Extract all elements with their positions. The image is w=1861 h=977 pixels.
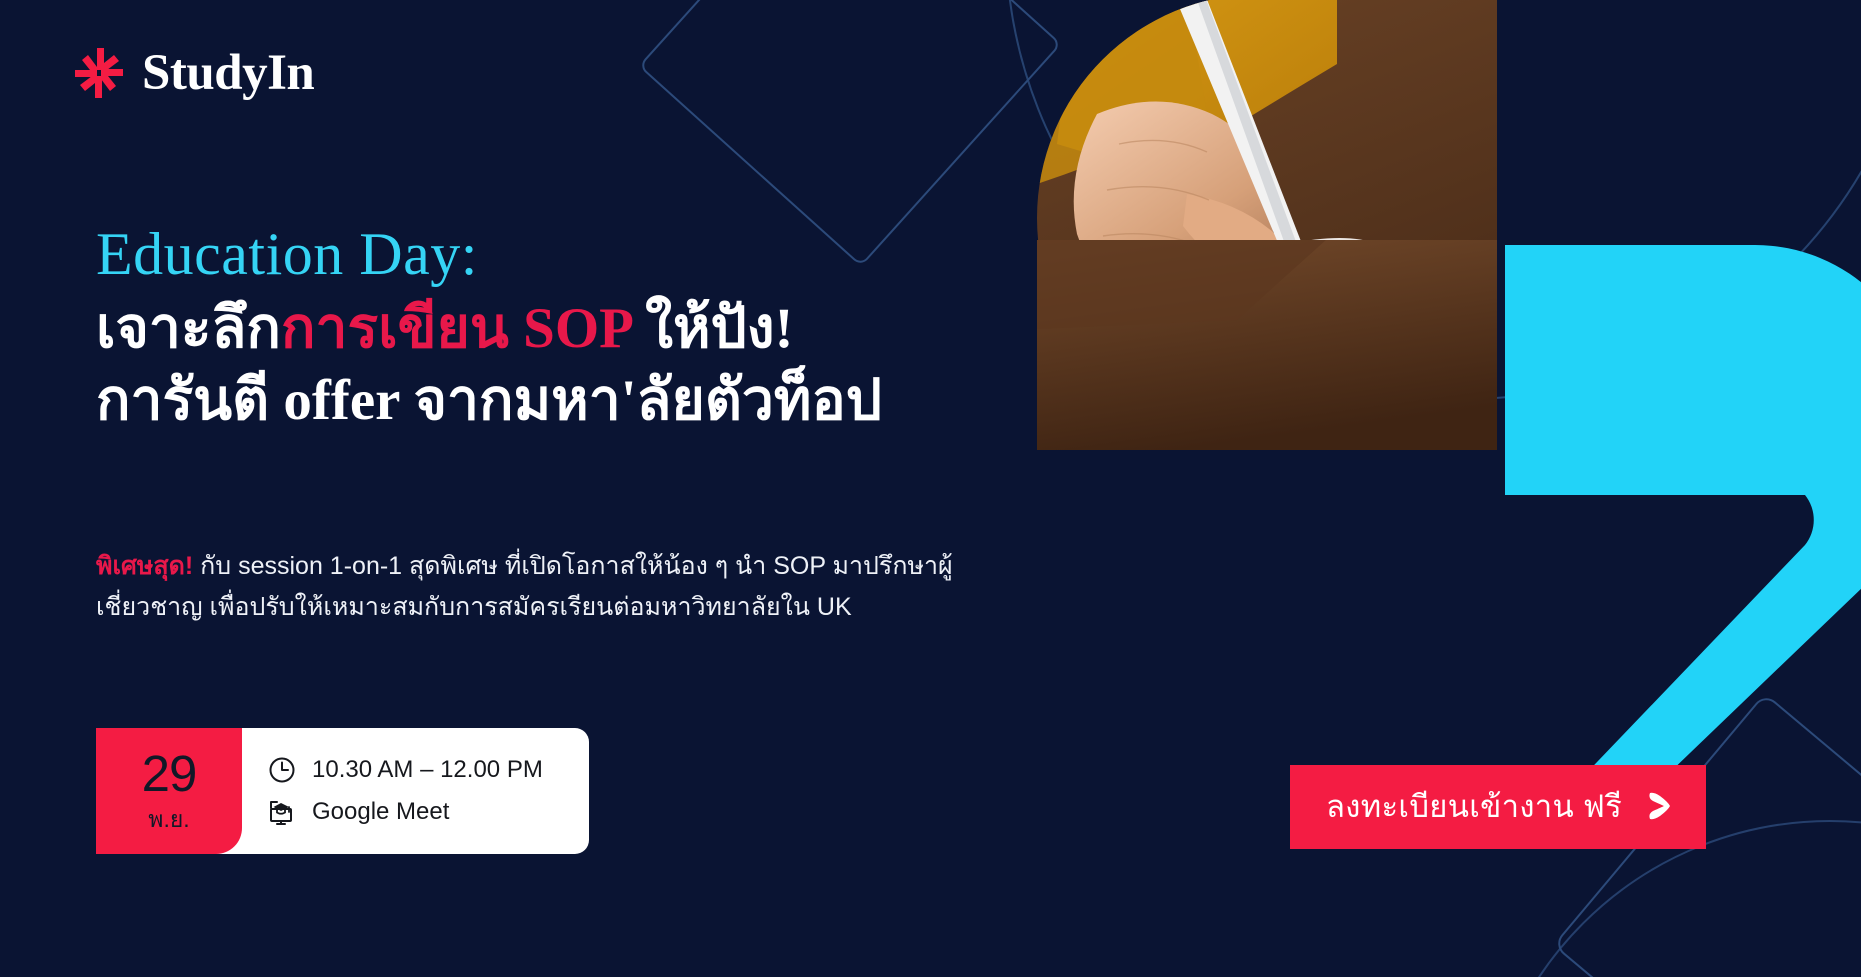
headline-line-1: Education Day:	[96, 222, 1156, 287]
chevron-right-arrow-icon	[1640, 789, 1674, 823]
headline-line-2-highlight: การเขียน SOP	[281, 297, 631, 360]
event-time-row: 10.30 AM – 12.00 PM	[268, 756, 543, 784]
headline-group: Education Day: เจาะลึกการเขียน SOP ให้ปั…	[96, 222, 1156, 436]
event-platform-text: Google Meet	[312, 798, 449, 826]
promo-banner: StudyIn Education Day: เจาะลึกการเขียน S…	[0, 0, 1861, 977]
event-platform-row: Google Meet	[268, 798, 543, 826]
brand-name: StudyIn	[142, 44, 314, 102]
asterisk-pinwheel-icon	[72, 46, 126, 100]
clock-icon	[268, 756, 296, 784]
brand-logo[interactable]: StudyIn	[72, 44, 314, 102]
register-cta-button[interactable]: ลงทะเบียนเข้างาน ฟรี	[1290, 765, 1706, 849]
headline-line-2-pre: เจาะลึก	[96, 297, 281, 360]
body-text: กับ session 1-on-1 สุดพิเศษ ที่เปิดโอกาส…	[96, 552, 953, 621]
register-cta-label: ลงทะเบียนเข้างาน ฟรี	[1326, 781, 1622, 831]
event-date-month: พ.ย.	[148, 802, 189, 838]
headline-line-2-post: ให้ปัง!	[631, 297, 794, 360]
headline-line-2: เจาะลึกการเขียน SOP ให้ปัง!	[96, 293, 1156, 365]
online-class-monitor-icon	[268, 798, 296, 826]
body-paragraph: พิเศษสุด! กับ session 1-on-1 สุดพิเศษ ที…	[96, 546, 996, 627]
event-info-card: 29 พ.ย. 10.30 AM – 12.00 PM	[96, 728, 589, 854]
event-time-text: 10.30 AM – 12.00 PM	[312, 756, 543, 784]
event-info-rows: 10.30 AM – 12.00 PM Google Meet	[242, 728, 589, 854]
event-date-block: 29 พ.ย.	[96, 728, 242, 854]
event-date-day: 29	[142, 748, 197, 799]
body-highlight: พิเศษสุด!	[96, 552, 193, 580]
cyan-chevron-arrow-shape-icon	[1505, 245, 1861, 845]
headline-line-3: การันตี offer จากมหา'ลัยตัวท็อป	[96, 365, 1156, 437]
